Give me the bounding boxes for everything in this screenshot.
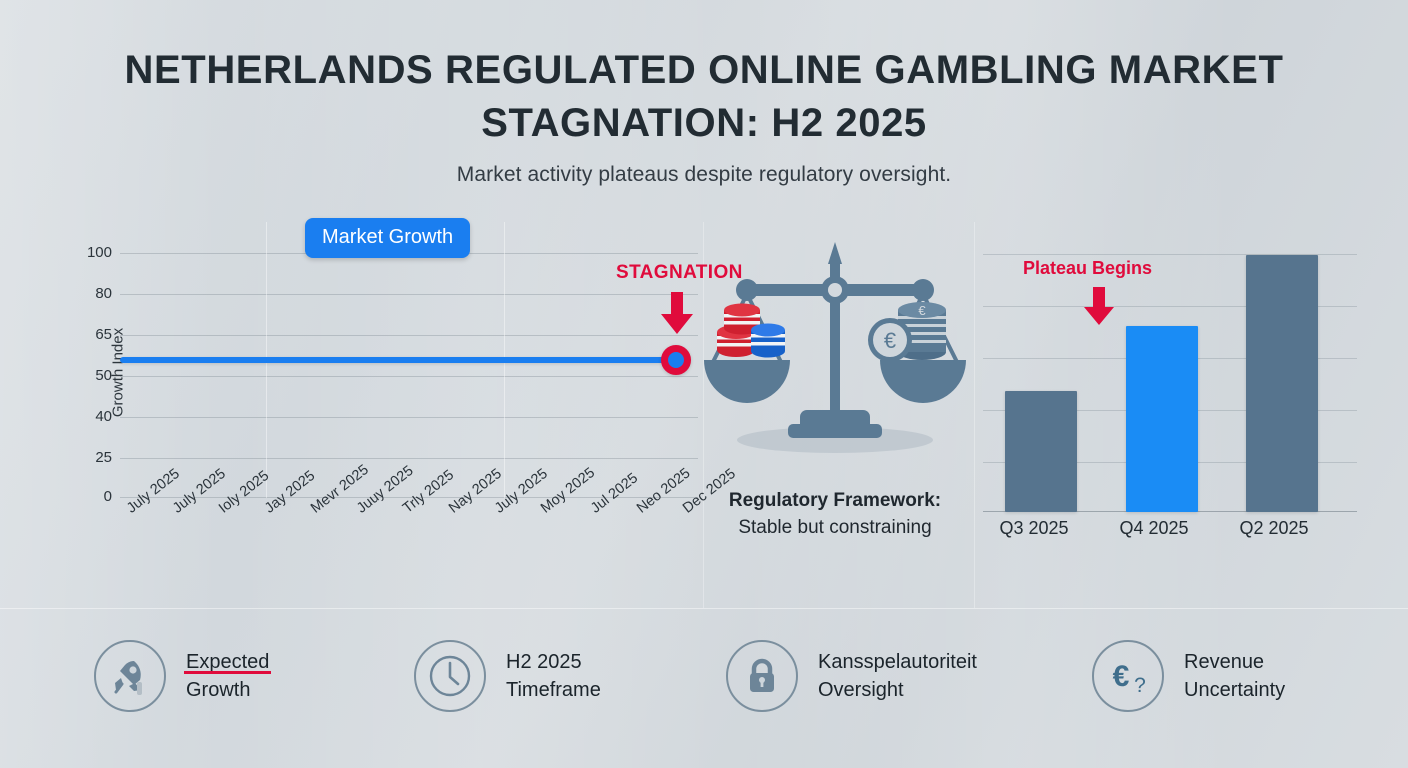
footer-item-line1: Expected	[186, 651, 269, 673]
scales-caption-line2: Stable but constraining	[700, 517, 970, 539]
line-chart-y-ticks: 100 80 65 50 40 25 0	[64, 222, 112, 522]
bar-chart: Plateau Begins Q3 2025 Q4 2025 Q2 2025	[975, 222, 1365, 608]
data-point-marker-icon[interactable]	[661, 345, 691, 375]
plateau-annotation-label: Plateau Begins	[1023, 258, 1152, 279]
svg-text:€: €	[918, 303, 926, 318]
footer-item-timeframe[interactable]: H2 2025 Timeframe	[414, 640, 601, 712]
footer-icon-row: Expected Growth H2 2025 Timeframe	[0, 612, 1408, 768]
footer-item-expected-growth[interactable]: Expected Growth	[94, 640, 269, 712]
line-chart-plot-area: Market Growth STAGNATION	[120, 222, 698, 498]
infographic-canvas: NETHERLANDS REGULATED ONLINE GAMBLING MA…	[0, 0, 1408, 768]
footer-item-revenue-uncertainty[interactable]: € ? Revenue Uncertainty	[1092, 640, 1285, 712]
footer-item-oversight[interactable]: Kansspelautoriteit Oversight	[726, 640, 977, 712]
market-growth-trendline	[120, 357, 676, 363]
footer-divider	[0, 608, 1408, 609]
market-growth-badge[interactable]: Market Growth	[305, 218, 470, 258]
bar-category-label: Q3 2025	[979, 518, 1089, 539]
gridline	[120, 335, 698, 336]
bar-category-label: Q2 2025	[1219, 518, 1329, 539]
svg-text:€: €	[884, 328, 896, 353]
balance-scale-icon: € €	[700, 232, 970, 482]
y-tick: 80	[66, 285, 112, 302]
footer-item-text: Expected Growth	[186, 648, 269, 705]
line-chart-x-ticks: July 2025 July 2025 Ioly 2025 Jay 2025 M…	[120, 504, 698, 594]
casino-chips-icon	[717, 304, 785, 358]
lock-icon	[726, 640, 798, 712]
y-tick: 100	[66, 244, 112, 261]
y-tick: 25	[66, 449, 112, 466]
scales-caption: Regulatory Framework: Stable but constra…	[700, 490, 970, 539]
arrow-down-icon	[1081, 287, 1117, 325]
bar-q4-2025[interactable]	[1126, 326, 1198, 512]
footer-item-text: H2 2025 Timeframe	[506, 648, 601, 705]
bar-q3-2025[interactable]	[1005, 391, 1077, 512]
footer-item-line2: Oversight	[818, 679, 904, 701]
bar-q2-2025[interactable]	[1246, 255, 1318, 512]
gridline	[120, 376, 698, 377]
y-tick: 65	[66, 326, 112, 343]
rocket-icon	[94, 640, 166, 712]
scales-caption-line1: Regulatory Framework:	[700, 490, 970, 512]
page-subtitle: Market activity plateaus despite regulat…	[0, 163, 1408, 187]
footer-item-line2: Timeframe	[506, 679, 601, 701]
footer-item-line2: Growth	[186, 679, 250, 701]
footer-item-text: Revenue Uncertainty	[1184, 648, 1285, 705]
line-chart: Growth Index 100 80 65 50 40 25 0	[48, 222, 698, 608]
euro-question-icon: € ?	[1092, 640, 1164, 712]
footer-item-line1: Revenue	[1184, 651, 1264, 673]
gridline	[120, 417, 698, 418]
y-tick: 40	[66, 408, 112, 425]
clock-icon	[414, 640, 486, 712]
gridline	[120, 458, 698, 459]
footer-item-text: Kansspelautoriteit Oversight	[818, 648, 977, 705]
svg-text:€: €	[1113, 660, 1130, 693]
y-tick: 50	[66, 367, 112, 384]
page-title: NETHERLANDS REGULATED ONLINE GAMBLING MA…	[0, 44, 1408, 150]
euro-coins-icon: € €	[868, 302, 946, 362]
svg-text:?: ?	[1134, 674, 1146, 697]
footer-item-line1: H2 2025	[506, 651, 582, 673]
footer-item-line2: Uncertainty	[1184, 679, 1285, 701]
bar-category-label: Q4 2025	[1099, 518, 1209, 539]
panels-row: Growth Index 100 80 65 50 40 25 0	[0, 222, 1408, 608]
bar-chart-plot-area: Plateau Begins	[983, 254, 1357, 512]
arrow-down-icon	[657, 292, 697, 334]
gridline	[120, 294, 698, 295]
regulatory-scales-illustration: € € Regulatory Framework: Stable but con…	[700, 222, 970, 608]
footer-item-line1: Kansspelautoriteit	[818, 651, 977, 673]
header: NETHERLANDS REGULATED ONLINE GAMBLING MA…	[0, 44, 1408, 187]
y-tick: 0	[66, 488, 112, 505]
